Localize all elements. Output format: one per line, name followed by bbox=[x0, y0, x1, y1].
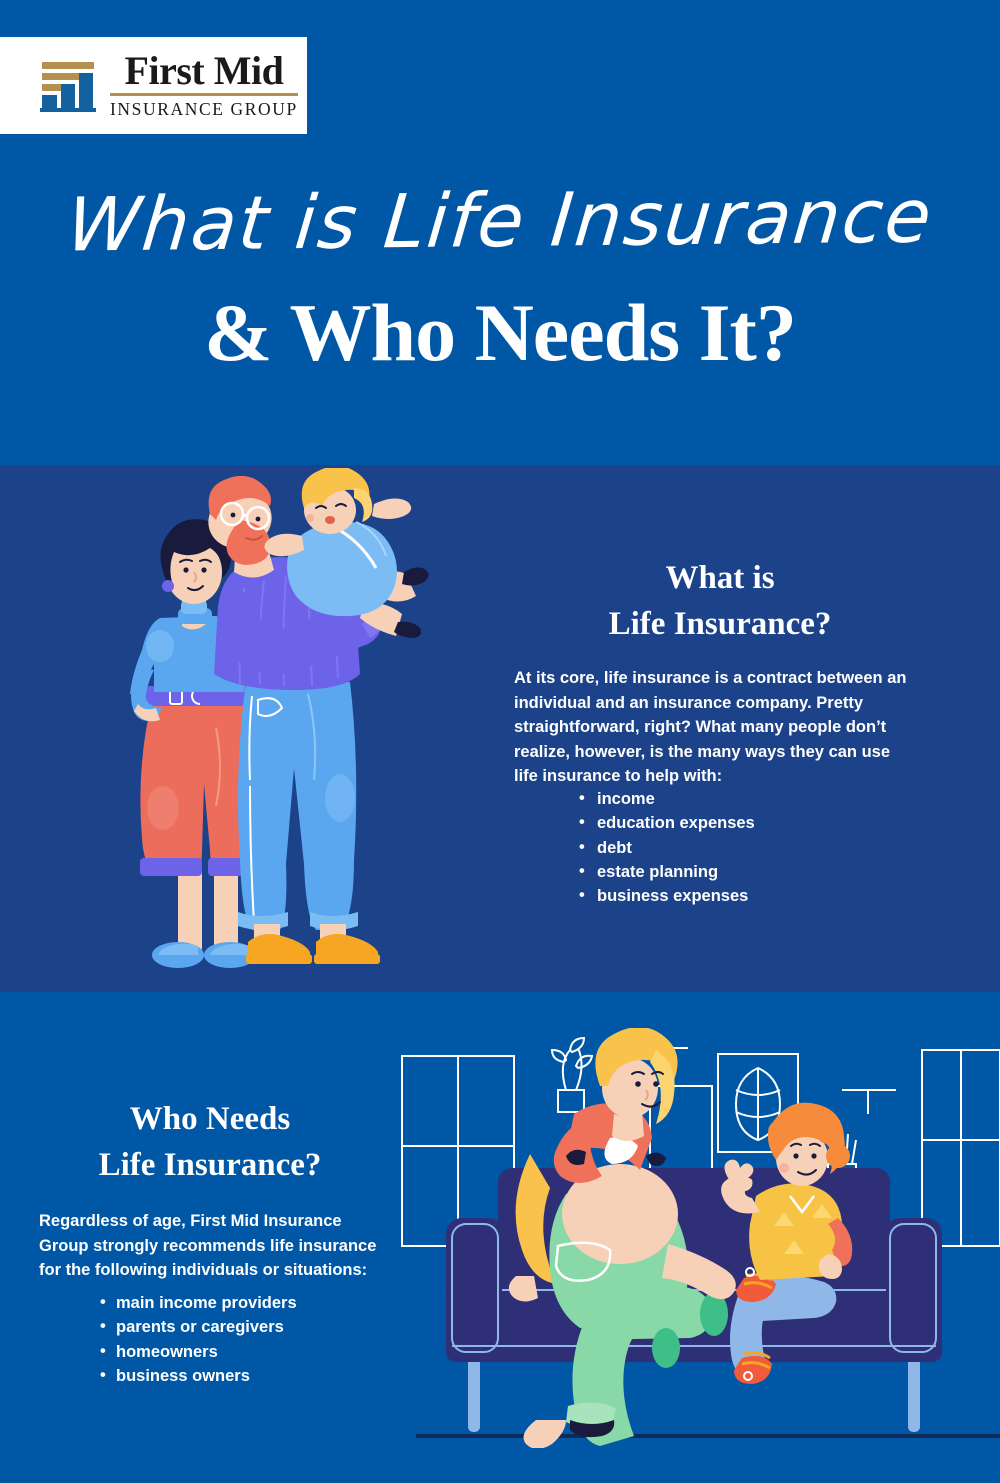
infographic-page: First Mid INSURANCE GROUP What is Life I… bbox=[0, 0, 1000, 1483]
family-illustration bbox=[118, 468, 468, 980]
logo-divider bbox=[110, 93, 298, 96]
brand-logo[interactable]: First Mid INSURANCE GROUP bbox=[0, 37, 307, 134]
section-what-is-heading: What is Life Insurance? bbox=[480, 556, 960, 647]
list-item: income bbox=[575, 787, 955, 811]
heading-line-1: What is bbox=[480, 556, 960, 602]
page-subtitle-script: What is Life Insurance bbox=[0, 173, 1000, 269]
list-item: business expenses bbox=[575, 884, 955, 908]
list-item: business owners bbox=[100, 1364, 440, 1388]
sofa-scene-illustration bbox=[398, 1028, 1000, 1448]
logo-tagline: INSURANCE GROUP bbox=[110, 99, 298, 120]
list-item: parents or caregivers bbox=[100, 1315, 440, 1339]
list-item: debt bbox=[575, 836, 955, 860]
section-what-is-body: At its core, life insurance is a contrac… bbox=[514, 666, 914, 789]
list-item: education expenses bbox=[575, 811, 955, 835]
section-what-is-bullets: income education expenses debt estate pl… bbox=[575, 787, 955, 908]
list-item: homeowners bbox=[100, 1340, 440, 1364]
list-item: estate planning bbox=[575, 860, 955, 884]
heading-line-2: Life Insurance? bbox=[30, 1142, 390, 1188]
bank-columns-icon bbox=[40, 60, 96, 112]
heading-line-1: Who Needs bbox=[30, 1096, 390, 1142]
list-item: main income providers bbox=[100, 1291, 440, 1315]
heading-line-2: Life Insurance? bbox=[480, 602, 960, 648]
section-who-needs-bullets: main income providers parents or caregiv… bbox=[100, 1291, 440, 1388]
page-title: & Who Needs It? bbox=[0, 286, 1000, 380]
section-who-needs-heading: Who Needs Life Insurance? bbox=[30, 1096, 390, 1188]
section-who-needs-body: Regardless of age, First Mid Insurance G… bbox=[39, 1209, 394, 1283]
logo-wordmark: First Mid bbox=[125, 51, 284, 90]
